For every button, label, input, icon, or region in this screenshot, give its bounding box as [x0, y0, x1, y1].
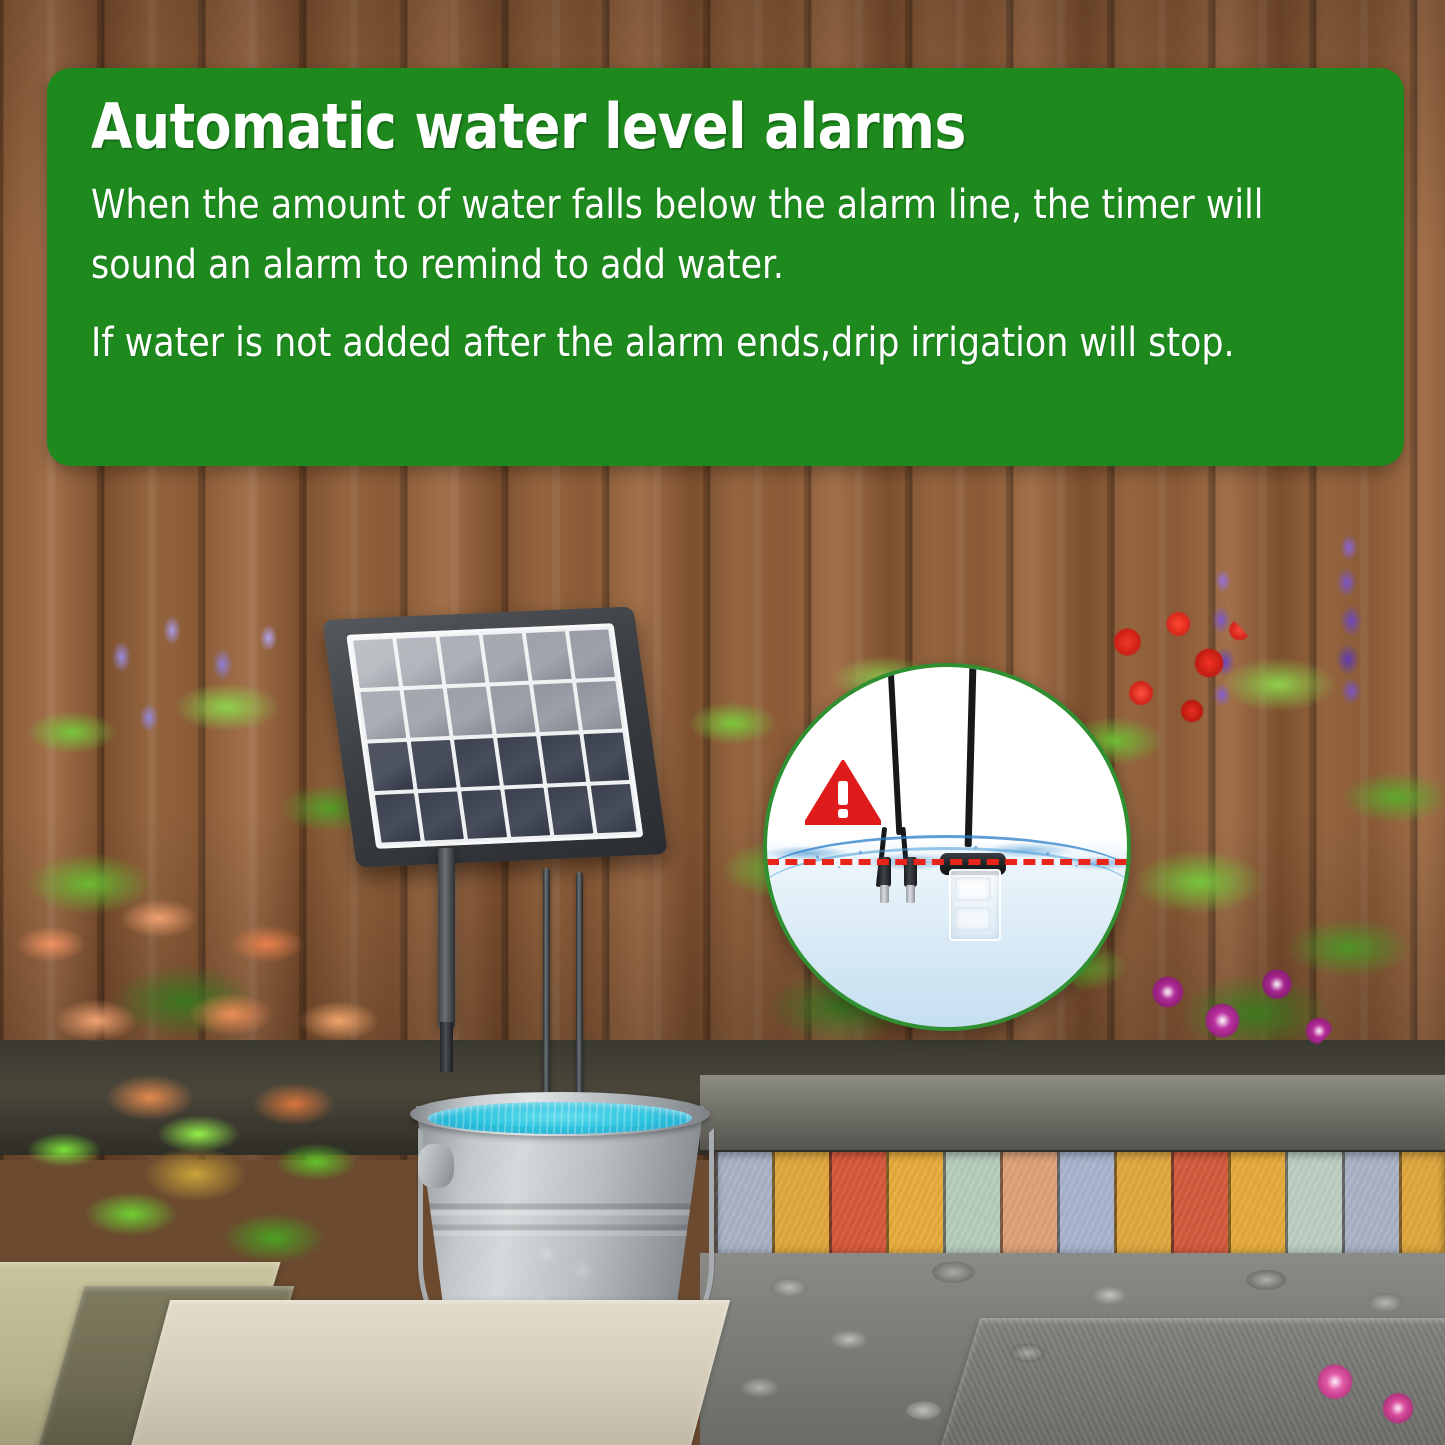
solar-cell — [583, 732, 629, 781]
solar-cell — [483, 633, 529, 682]
warning-triangle-icon — [805, 759, 881, 825]
solar-cell — [418, 791, 464, 840]
bottom-petunia-flowers — [1290, 1330, 1440, 1445]
solar-cell — [504, 788, 550, 837]
paving-slab-left — [130, 1300, 730, 1445]
probe-metal-tip-b — [906, 885, 915, 903]
banner-paragraph-2: If water is not added after the alarm en… — [91, 313, 1322, 373]
probe-metal-tip-a — [880, 885, 889, 903]
solar-cell — [454, 738, 500, 787]
solar-cell — [591, 784, 637, 833]
brick-texture-overlay — [715, 1152, 1445, 1257]
solar-cell — [404, 688, 450, 737]
solar-cell — [576, 681, 622, 730]
solar-cell — [447, 687, 493, 736]
solar-cell — [548, 786, 594, 835]
solar-cell — [440, 635, 486, 684]
red-flower-cluster — [1090, 600, 1260, 750]
magenta-petunias — [1130, 940, 1340, 1070]
solar-panel-housing — [322, 606, 668, 867]
bucket-handle-lug — [418, 1144, 454, 1188]
solar-cell — [497, 736, 543, 785]
solar-cell — [411, 740, 457, 789]
solar-panel-frame — [346, 623, 643, 849]
solar-cell — [396, 637, 442, 686]
pump-cable-right — [965, 667, 977, 847]
solar-panel — [340, 612, 680, 912]
product-feature-image: Automatic water level alarms When the am… — [0, 0, 1445, 1445]
solar-cell — [375, 793, 421, 842]
feature-banner: Automatic water level alarms When the am… — [47, 68, 1404, 466]
solar-panel-ground-spike — [440, 1022, 453, 1072]
water-level-alarm-detail-inset — [763, 663, 1131, 1031]
solar-panel-pole — [438, 848, 455, 1028]
solar-cell — [461, 790, 507, 839]
solar-cell — [368, 742, 414, 791]
probe-cable-left — [888, 667, 903, 835]
stone-bed-edging — [700, 1075, 1445, 1150]
banner-paragraph-1: When the amount of water falls below the… — [91, 175, 1322, 295]
solar-cell — [569, 629, 615, 678]
solar-cell — [490, 685, 536, 734]
banner-title: Automatic water level alarms — [91, 94, 1309, 161]
solar-cell — [353, 639, 399, 688]
solar-cell — [540, 734, 586, 783]
solar-cell — [533, 683, 579, 732]
coleus-green-foliage — [0, 1090, 400, 1290]
lavender-flowers — [80, 600, 310, 790]
pump-intake-slot-lower — [955, 907, 991, 931]
solar-cell-grid — [353, 629, 636, 842]
solar-cell — [526, 631, 572, 680]
pump-intake-slot-upper — [955, 877, 991, 901]
solar-cell — [360, 690, 406, 739]
alarm-water-line — [767, 859, 1127, 865]
purple-salvia-spike — [1320, 530, 1378, 705]
